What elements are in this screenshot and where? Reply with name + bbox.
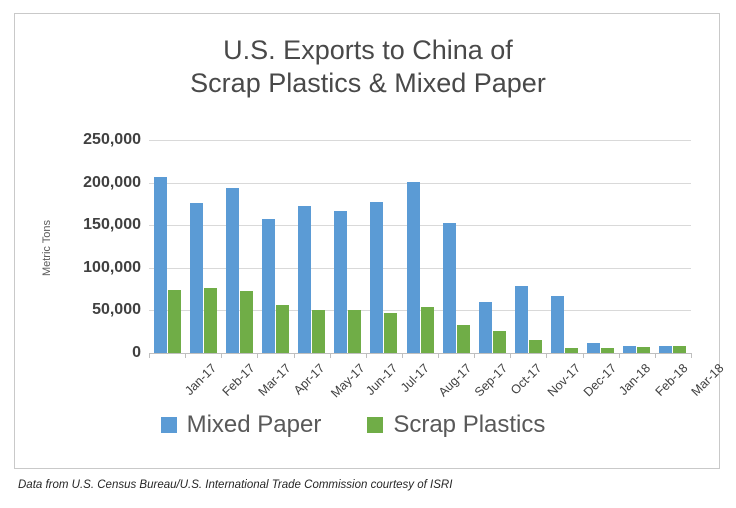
x-axis-tickmark	[366, 353, 367, 358]
bar-scrap-plastics-feb-17	[204, 288, 217, 353]
screenshot-root: U.S. Exports to China ofScrap Plastics &…	[0, 0, 736, 508]
gridline	[149, 183, 691, 184]
x-axis-tickmark	[546, 353, 547, 358]
x-axis-tickmark	[691, 353, 692, 358]
x-axis-label-feb-18: Feb-18	[653, 361, 691, 399]
bar-scrap-plastics-mar-18	[673, 346, 686, 353]
y-axis-tick-label: 150,000	[83, 216, 141, 234]
gridline	[149, 140, 691, 141]
plot-area: 250,000200,000150,000100,00050,0000Jan-1…	[149, 140, 691, 353]
bar-scrap-plastics-jan-18	[601, 348, 614, 353]
bar-mixed-paper-jan-18	[587, 343, 600, 353]
chart-title: U.S. Exports to China ofScrap Plastics &…	[15, 34, 721, 100]
y-axis-tick-label: 50,000	[92, 301, 141, 319]
bar-scrap-plastics-jan-17	[168, 290, 181, 353]
legend-swatch-mixed-paper	[161, 417, 177, 433]
chart-title-line-1: U.S. Exports to China of	[15, 34, 721, 67]
y-axis-tick-label: 200,000	[83, 174, 141, 192]
x-axis-label-mar-18: Mar-18	[689, 361, 727, 399]
x-axis-label-aug-17: Aug-17	[436, 361, 474, 399]
y-axis-tick-label: 100,000	[83, 259, 141, 277]
x-axis-tickmark	[185, 353, 186, 358]
x-axis-label-apr-17: Apr-17	[291, 361, 327, 397]
bar-mixed-paper-nov-17	[515, 286, 528, 353]
x-axis-tickmark	[655, 353, 656, 358]
x-axis-label-mar-17: Mar-17	[255, 361, 293, 399]
bar-mixed-paper-sep-17	[443, 223, 456, 353]
bar-mixed-paper-mar-18	[659, 346, 672, 353]
x-axis-label-nov-17: Nov-17	[545, 361, 583, 399]
legend-label: Scrap Plastics	[393, 412, 545, 438]
bar-mixed-paper-jan-17	[154, 177, 167, 353]
bar-mixed-paper-feb-17	[190, 203, 203, 353]
bar-mixed-paper-dec-17	[551, 296, 564, 353]
bar-mixed-paper-may-17	[298, 206, 311, 353]
x-axis-tickmark	[510, 353, 511, 358]
chart-legend: Mixed PaperScrap Plastics	[0, 412, 706, 438]
bar-mixed-paper-aug-17	[407, 182, 420, 353]
x-axis-tickmark	[438, 353, 439, 358]
y-axis-tick-label: 0	[132, 344, 141, 362]
bar-scrap-plastics-dec-17	[565, 348, 578, 353]
x-axis-line	[149, 353, 691, 354]
x-axis-label-feb-17: Feb-17	[219, 361, 257, 399]
chart-card: U.S. Exports to China ofScrap Plastics &…	[14, 13, 720, 469]
chart-title-line-2: Scrap Plastics & Mixed Paper	[15, 67, 721, 100]
bar-scrap-plastics-oct-17	[493, 331, 506, 353]
bar-mixed-paper-jun-17	[334, 211, 347, 353]
x-axis-label-may-17: May-17	[328, 361, 367, 400]
bar-scrap-plastics-apr-17	[276, 305, 289, 353]
x-axis-tickmark	[619, 353, 620, 358]
legend-item-mixed-paper: Mixed Paper	[161, 412, 322, 438]
bar-scrap-plastics-feb-18	[637, 347, 650, 353]
bar-scrap-plastics-sep-17	[457, 325, 470, 353]
x-axis-label-jul-17: Jul-17	[398, 361, 432, 395]
y-axis-title: Metric Tons	[41, 203, 53, 293]
legend-item-scrap-plastics: Scrap Plastics	[367, 412, 545, 438]
x-axis-label-jun-17: Jun-17	[363, 361, 400, 398]
bar-scrap-plastics-may-17	[312, 310, 325, 353]
bar-mixed-paper-jul-17	[370, 202, 383, 353]
legend-swatch-scrap-plastics	[367, 417, 383, 433]
x-axis-tickmark	[149, 353, 150, 358]
bar-scrap-plastics-jun-17	[348, 310, 361, 353]
bar-mixed-paper-apr-17	[262, 219, 275, 353]
x-axis-label-dec-17: Dec-17	[581, 361, 619, 399]
legend-label: Mixed Paper	[187, 412, 322, 438]
bar-scrap-plastics-aug-17	[421, 307, 434, 353]
source-note: Data from U.S. Census Bureau/U.S. Intern…	[18, 479, 452, 491]
x-axis-tickmark	[583, 353, 584, 358]
x-axis-tickmark	[221, 353, 222, 358]
x-axis-tickmark	[330, 353, 331, 358]
x-axis-tickmark	[294, 353, 295, 358]
x-axis-tickmark	[474, 353, 475, 358]
bar-mixed-paper-mar-17	[226, 188, 239, 353]
x-axis-label-sep-17: Sep-17	[472, 361, 510, 399]
y-axis-tick-label: 250,000	[83, 131, 141, 149]
x-axis-label-oct-17: Oct-17	[508, 361, 544, 397]
bar-scrap-plastics-nov-17	[529, 340, 542, 353]
bar-mixed-paper-feb-18	[623, 346, 636, 353]
x-axis-label-jan-18: Jan-18	[616, 361, 653, 398]
x-axis-tickmark	[257, 353, 258, 358]
x-axis-tickmark	[402, 353, 403, 358]
bar-scrap-plastics-jul-17	[384, 313, 397, 353]
x-axis-label-jan-17: Jan-17	[183, 361, 220, 398]
bar-scrap-plastics-mar-17	[240, 291, 253, 353]
bar-mixed-paper-oct-17	[479, 302, 492, 353]
